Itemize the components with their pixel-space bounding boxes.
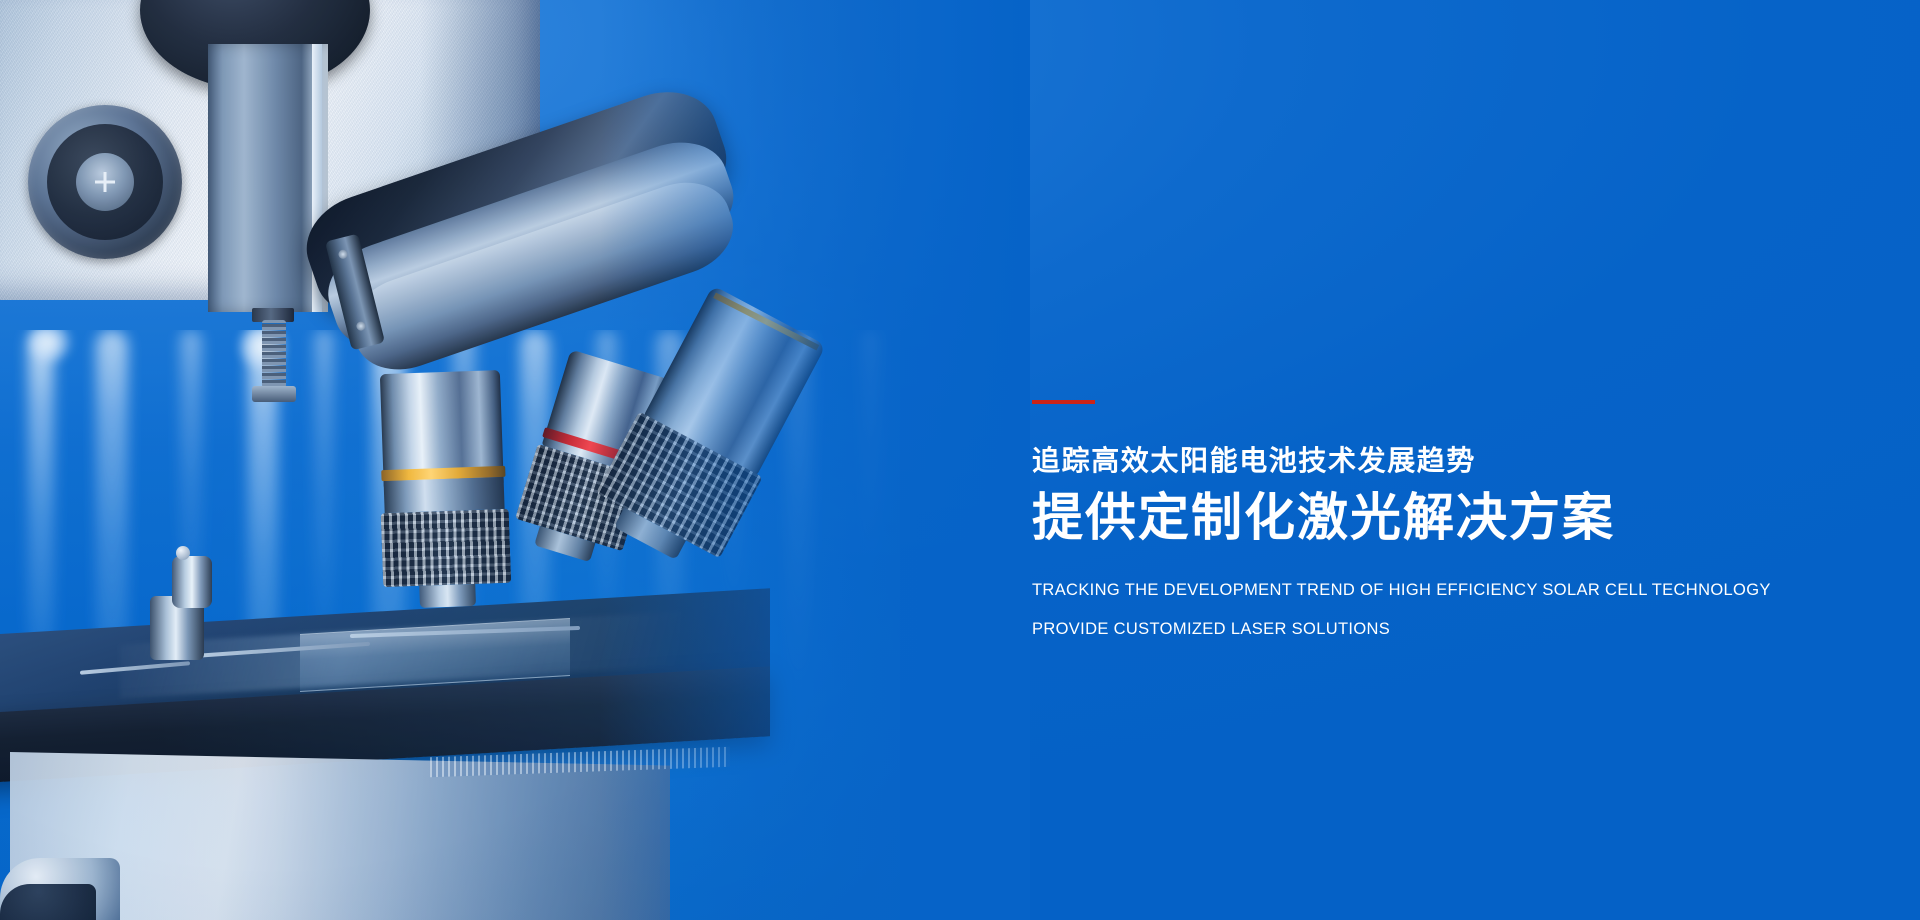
- phillips-screw-icon: [95, 172, 115, 192]
- subtitle-line-1: TRACKING THE DEVELOPMENT TREND OF HIGH E…: [1032, 582, 1832, 599]
- lens-band: [384, 477, 505, 513]
- hero-banner: 追踪高效太阳能电池技术发展趋势 提供定制化激光解决方案 TRACKING THE…: [0, 0, 1920, 920]
- lens-knurled-grip: [381, 509, 512, 587]
- objective-lens-amber-ring: [374, 370, 514, 614]
- subtitle-line-2: PROVIDE CUSTOMIZED LASER SOLUTIONS: [1032, 621, 1832, 638]
- rail-screw-shaft: [262, 320, 286, 388]
- photo-fade-to-background: [600, 0, 1030, 920]
- focus-rail: [208, 44, 328, 312]
- rail-screw-cap: [252, 386, 296, 402]
- stage-knob-pin: [176, 546, 190, 560]
- stage-adjust-knob-upper: [172, 556, 212, 608]
- accent-bar: [1032, 400, 1095, 404]
- base-foot-dark: [0, 884, 96, 920]
- lens-tip: [419, 584, 476, 608]
- headline-primary: 提供定制化激光解决方案: [1032, 487, 1832, 549]
- headline-secondary: 追踪高效太阳能电池技术发展趋势: [1032, 446, 1832, 477]
- hero-copy: 追踪高效太阳能电池技术发展趋势 提供定制化激光解决方案 TRACKING THE…: [1032, 388, 1832, 639]
